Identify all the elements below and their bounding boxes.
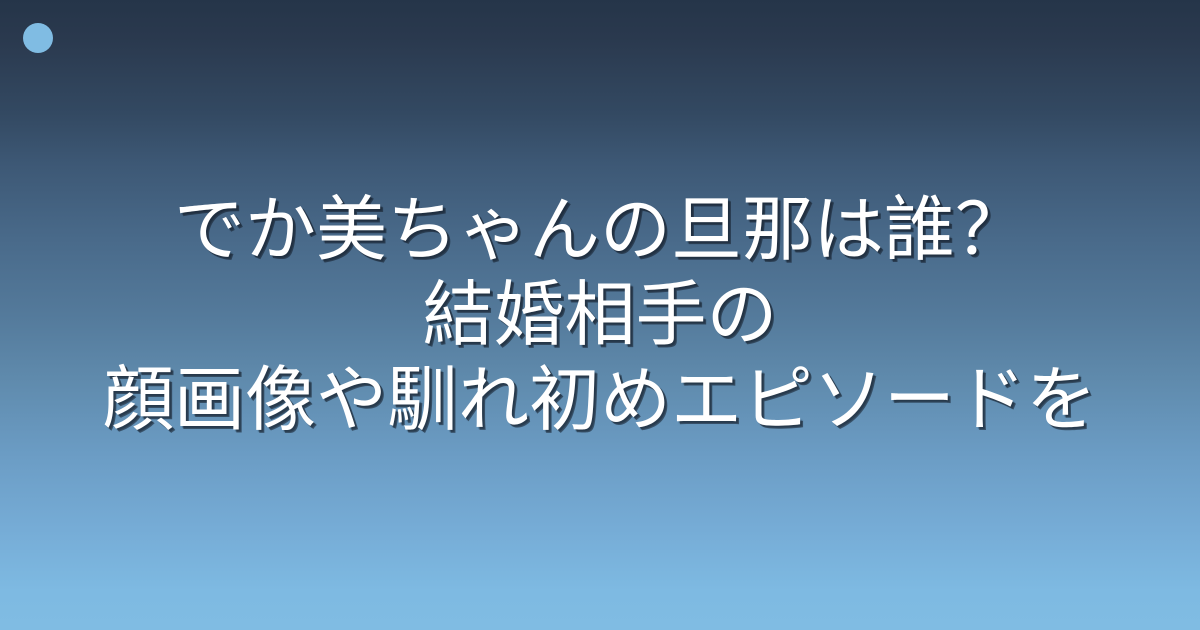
title-line-3: 顔画像や馴れ初めエピソードを xyxy=(24,358,1176,443)
og-image-card: でか美ちゃんの旦那は誰？ 結婚相手の 顔画像や馴れ初めエピソードを xyxy=(0,0,1200,630)
page-title: でか美ちゃんの旦那は誰？ 結婚相手の 顔画像や馴れ初めエピソードを xyxy=(0,0,1200,630)
title-line-2: 結婚相手の xyxy=(24,273,1176,358)
title-line-1: でか美ちゃんの旦那は誰？ xyxy=(24,188,1176,273)
